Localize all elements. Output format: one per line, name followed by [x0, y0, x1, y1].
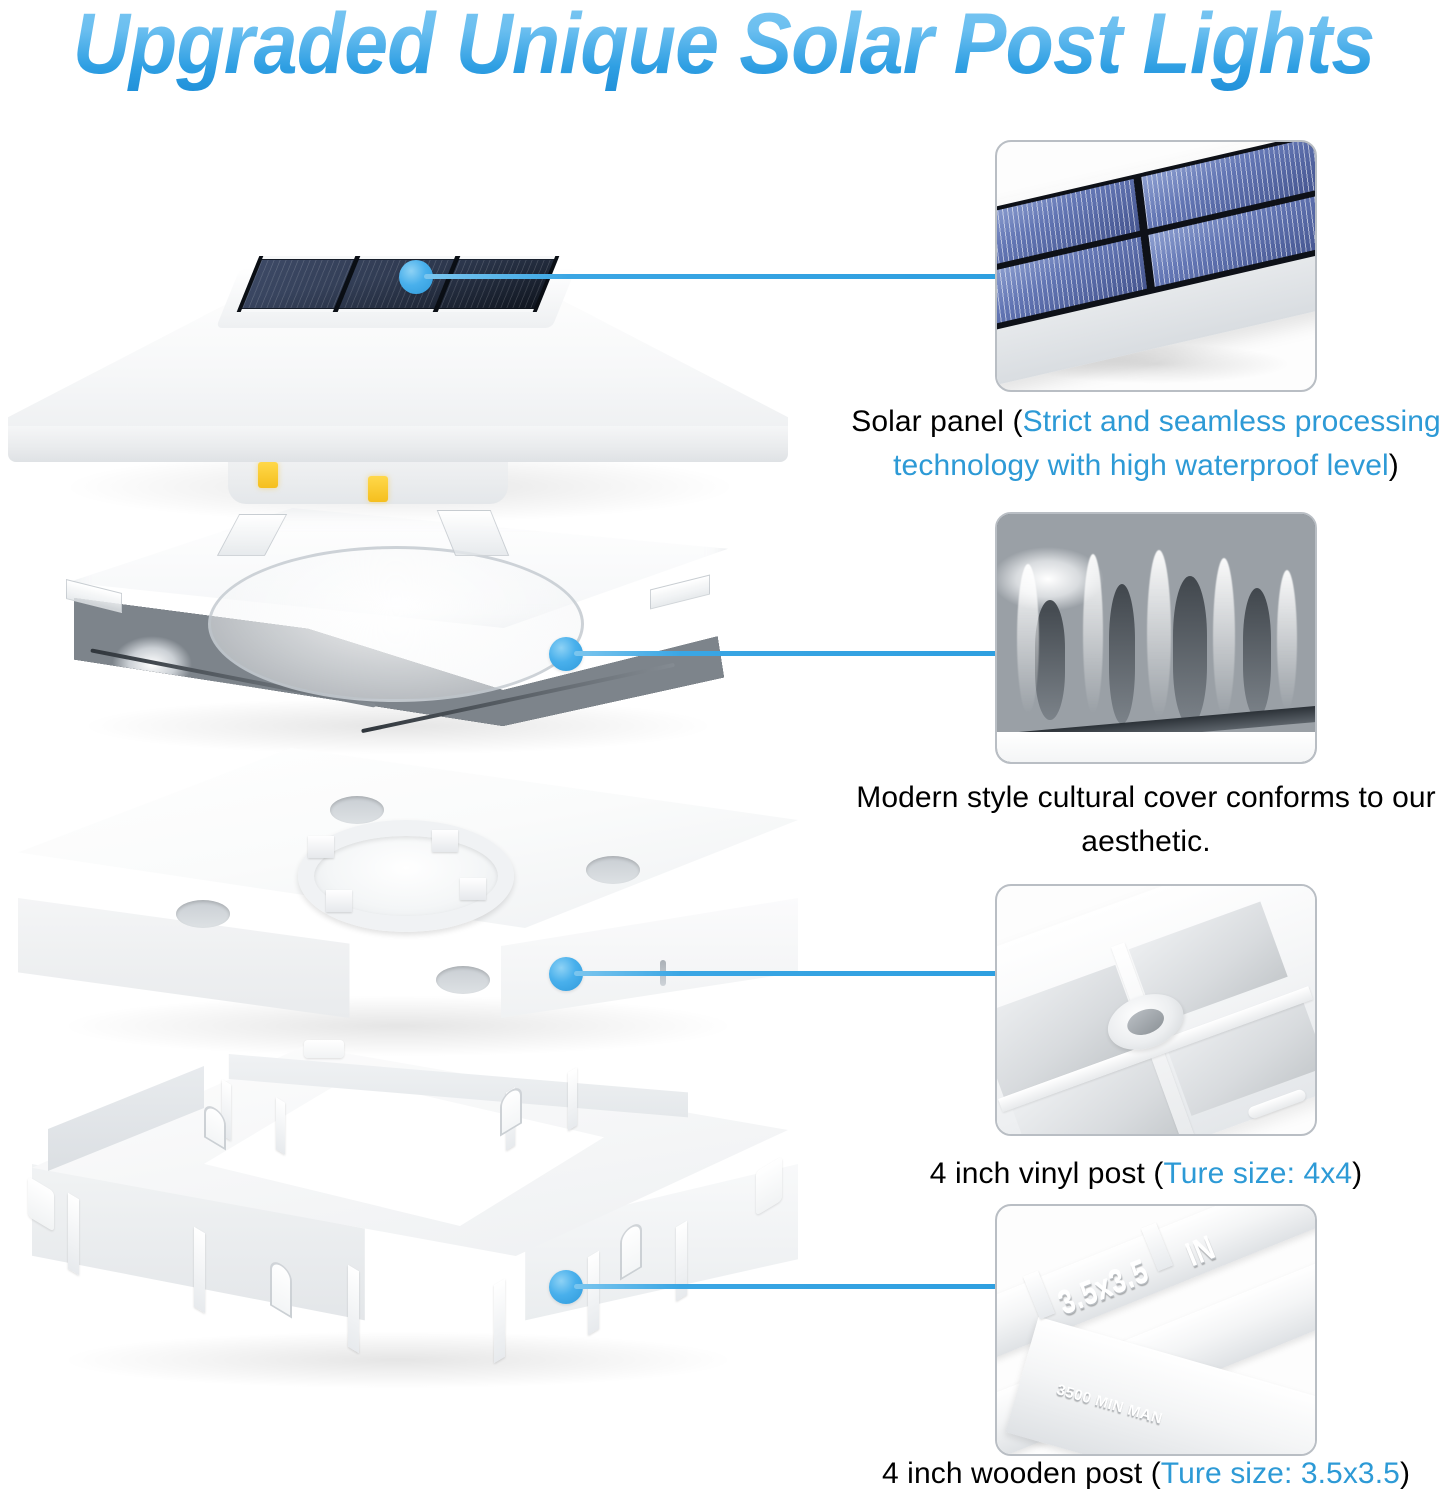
callout-line-vinyl-post: [574, 971, 1002, 976]
screw-hole-top: [330, 796, 384, 824]
caption-solar-prefix: Solar panel (: [851, 405, 1022, 438]
caption-wooden-post: 4 inch wooden post (Ture size: 3.5x3.5): [846, 1452, 1446, 1496]
caption-solar-suffix: ): [1389, 449, 1399, 482]
cap-solar-panel: [237, 256, 560, 312]
inset-vinyl-post-closeup: [995, 884, 1317, 1136]
caption-vinyl-prefix: 4 inch vinyl post (: [930, 1157, 1164, 1190]
exploded-part-crystal-cover: [28, 500, 768, 740]
led-chip-right: [368, 476, 388, 502]
inset-solar-panel-closeup: [995, 140, 1317, 392]
callout-line-solar-panel: [424, 274, 1002, 279]
caption-wood-suffix: ): [1400, 1457, 1410, 1490]
caption-vinyl-suffix: ): [1352, 1157, 1362, 1190]
led-chip-left: [258, 462, 278, 488]
caption-wood-prefix: 4 inch wooden post (: [882, 1457, 1161, 1490]
caption-vinyl-post: 4 inch vinyl post (Ture size: 4x4): [846, 1152, 1446, 1196]
caption-wood-highlight: Ture size: 3.5x3.5: [1161, 1457, 1400, 1490]
page-title: Upgraded Unique Solar Post Lights: [58, 0, 1389, 95]
solar-panel-glass: [995, 140, 1317, 332]
screw-hole-right: [586, 856, 640, 884]
caption-solar-panel: Solar panel (Strict and seamless process…: [846, 400, 1446, 488]
caption-cultural-cover: Modern style cultural cover conforms to …: [846, 776, 1446, 864]
inset-cultural-cover-closeup: [995, 512, 1317, 764]
cover-inner-ring: [208, 546, 584, 702]
product-infographic: Upgraded Unique Solar Post Lights: [0, 0, 1447, 1500]
screw-hole-left: [176, 900, 230, 928]
screw-hole-bottom: [436, 966, 490, 994]
caption-cover-prefix: Modern style cultural cover conforms to …: [856, 781, 1436, 858]
inset-wooden-post-closeup: 3.5x3.5 IN 3500 MIN MAN: [995, 1204, 1317, 1456]
exploded-part-post-adapter-frame: [8, 1046, 808, 1376]
callout-line-wooden-post: [574, 1284, 1002, 1289]
cap-rim: [8, 426, 788, 462]
exploded-part-base-plate: [8, 748, 808, 1034]
caption-vinyl-highlight: Ture size: 4x4: [1163, 1157, 1352, 1190]
callout-line-cultural-cover: [574, 651, 1002, 656]
vinyl-post-plate: [995, 884, 1317, 1136]
